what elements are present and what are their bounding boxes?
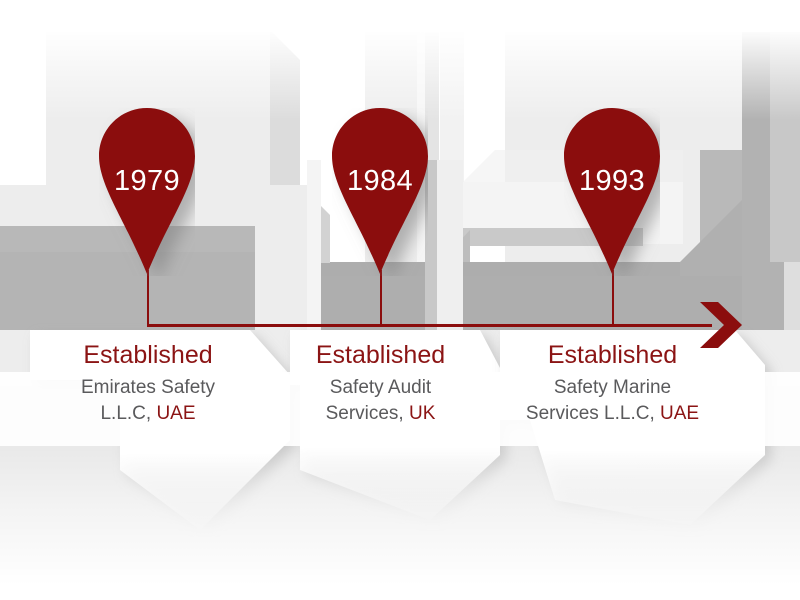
milestone-body-line1-2: Safety Audit bbox=[278, 375, 483, 401]
milestone-marker-2[interactable]: 1984 bbox=[332, 108, 428, 276]
milestone-body-country-1: UAE bbox=[156, 403, 195, 424]
map-pin-icon bbox=[564, 108, 660, 276]
foreground-angular-panels bbox=[0, 0, 800, 600]
map-pin-icon bbox=[99, 108, 195, 276]
milestone-title-1: Established bbox=[43, 342, 253, 369]
timeline-axis-line bbox=[147, 324, 712, 327]
milestone-body-line2-1: L.L.C, UAE bbox=[43, 401, 253, 427]
milestone-marker-3[interactable]: 1993 bbox=[564, 108, 660, 276]
milestone-body-line2-3: Services L.L.C, UAE bbox=[505, 401, 720, 427]
timeline-connector-2 bbox=[380, 270, 382, 327]
milestone-body-3: Safety Marine Services L.L.C, UAE bbox=[505, 375, 720, 427]
milestone-marker-1[interactable]: 1979 bbox=[99, 108, 195, 276]
milestone-body-plain-3: Services L.L.C, bbox=[526, 403, 660, 424]
map-pin-icon bbox=[332, 108, 428, 276]
milestone-body-2: Safety Audit Services, UK bbox=[278, 375, 483, 427]
infographic-canvas: 1979 1984 1993 Established bbox=[0, 0, 800, 600]
timeline-connector-1 bbox=[147, 270, 149, 327]
milestone-caption-2: Established Safety Audit Services, UK bbox=[278, 342, 483, 427]
milestone-body-plain-2: Services, bbox=[326, 403, 409, 424]
milestone-body-line2-2: Services, UK bbox=[278, 401, 483, 427]
milestone-caption-1: Established Emirates Safety L.L.C, UAE bbox=[43, 342, 253, 427]
milestone-body-line1-1: Emirates Safety bbox=[43, 375, 253, 401]
timeline-connector-3 bbox=[612, 270, 614, 327]
milestone-body-country-2: UK bbox=[409, 403, 435, 424]
milestone-body-plain-1: L.L.C, bbox=[100, 403, 156, 424]
milestone-title-2: Established bbox=[278, 342, 483, 369]
milestone-caption-3: Established Safety Marine Services L.L.C… bbox=[505, 342, 720, 427]
milestone-title-3: Established bbox=[505, 342, 720, 369]
milestone-body-line1-3: Safety Marine bbox=[505, 375, 720, 401]
milestone-body-1: Emirates Safety L.L.C, UAE bbox=[43, 375, 253, 427]
milestone-body-country-3: UAE bbox=[660, 403, 699, 424]
